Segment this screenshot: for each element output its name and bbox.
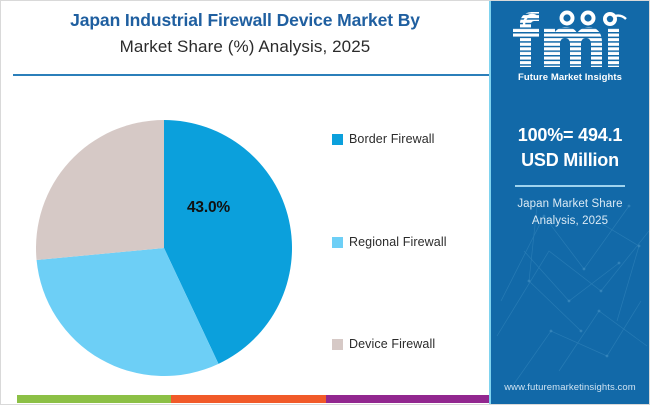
- header-divider: [13, 74, 489, 76]
- panel-divider: [515, 185, 625, 187]
- panel-stat-unit: USD Million: [489, 148, 650, 173]
- bottom-color-strip: [17, 395, 489, 403]
- strip-segment-orange: [171, 395, 326, 403]
- legend-item-border-firewall[interactable]: Border Firewall: [332, 132, 435, 146]
- panel-subtitle: Japan Market Share Analysis, 2025: [499, 196, 641, 230]
- legend-swatch-icon: [332, 134, 343, 145]
- fmi-logo: Future Market Insights: [489, 9, 650, 83]
- side-panel: Future Market Insights 100%= 494.1 USD M…: [489, 1, 650, 405]
- page-title: Japan Industrial Firewall Device Market …: [1, 7, 489, 61]
- panel-statistic: 100%= 494.1 USD Million: [489, 123, 650, 173]
- strip-segment-green: [17, 395, 171, 403]
- legend-item-regional-firewall[interactable]: Regional Firewall: [332, 235, 447, 249]
- pie-chart-svg: [36, 120, 292, 376]
- fmi-logo-tagline: Future Market Insights: [489, 72, 650, 83]
- title-line-primary: Japan Industrial Firewall Device Market …: [1, 7, 489, 33]
- fmi-logo-mark-icon: [510, 9, 630, 71]
- legend-label: Border Firewall: [349, 132, 435, 146]
- panel-website-url[interactable]: www.futuremarketinsights.com: [489, 382, 650, 393]
- strip-segment-purple: [326, 395, 489, 403]
- legend-label: Regional Firewall: [349, 235, 447, 249]
- title-line-secondary: Market Share (%) Analysis, 2025: [1, 33, 489, 61]
- pie-chart: [36, 120, 292, 376]
- legend-swatch-icon: [332, 339, 343, 350]
- pie-slice-device-firewall[interactable]: [36, 120, 164, 260]
- legend-swatch-icon: [332, 237, 343, 248]
- pie-slice-data-label: 43.0%: [187, 199, 230, 217]
- pie-slice-group: [36, 120, 292, 376]
- panel-stat-value: 100%= 494.1: [489, 123, 650, 148]
- legend-label: Device Firewall: [349, 337, 435, 351]
- legend-item-device-firewall[interactable]: Device Firewall: [332, 337, 435, 351]
- chart-infographic: Japan Industrial Firewall Device Market …: [0, 0, 650, 405]
